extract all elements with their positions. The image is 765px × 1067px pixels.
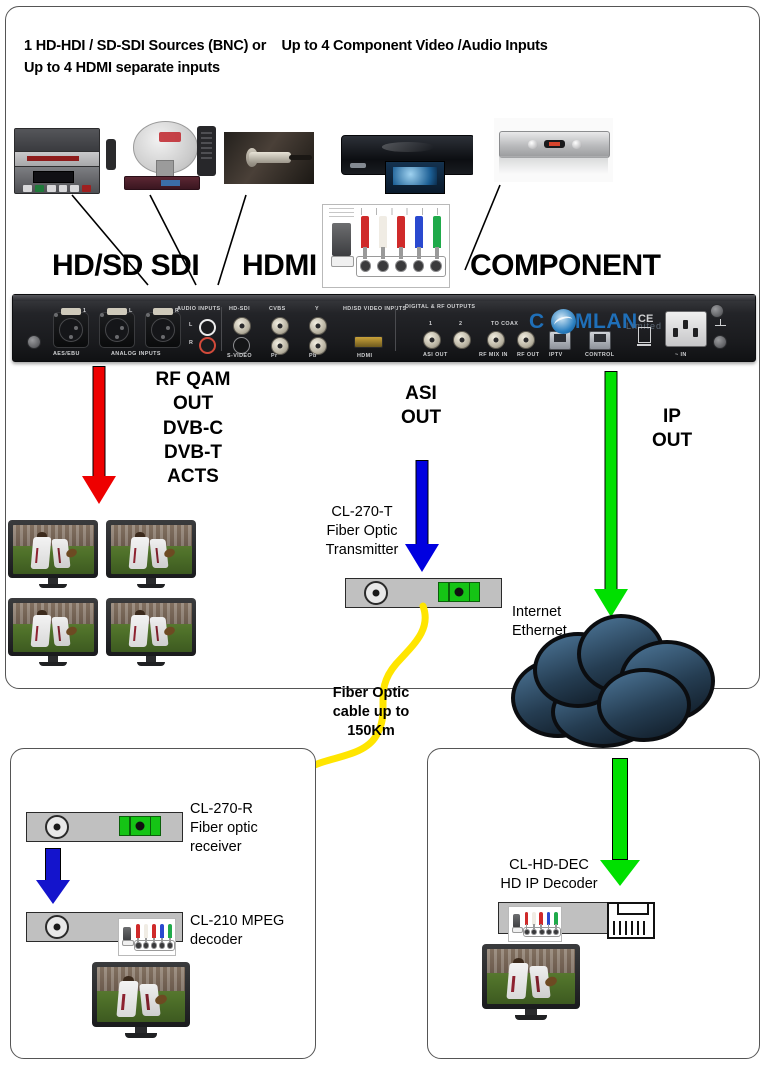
rack-label-ch1: 1 [83,308,86,314]
rack-label-y: Y [315,306,319,312]
caption-component: COMPONENT [470,248,661,283]
source-thumbnail-satellite-dish [104,120,216,192]
cl-270-t-transmitter-device [345,578,502,608]
internet-cloud [511,612,711,743]
chassis-screw-top [710,304,724,318]
source-thumbnail-component-cable-chart [322,204,450,288]
rack-label-rca-r: R [189,340,193,346]
rf-output-label: RF QAM OUT DVB-C DVB-T ACTS [128,368,258,490]
tv-display [106,520,196,588]
rack-label-s-video: S-VIDEO [227,353,252,359]
rack-label-asi-2: 2 [459,321,462,327]
tv-display [8,520,98,588]
s-video-port [233,337,250,354]
rack-label-pr: Pr [271,353,278,359]
source-thumbnail-coax-connector [224,132,314,184]
rack-label-hdsd-video-inputs: HD/SD VIDEO INPUTS [343,306,407,312]
caption-hd-sd-sdi: HD/SD SDI [52,248,199,283]
hdmi-port [354,336,383,348]
source-thumbnail-bluray-player [341,124,473,194]
mpeg-decoder-label: CL-210 MPEG decoder [190,912,306,950]
rf-output-arrow [82,366,116,504]
receiver-label: CL-270-R Fiber optic receiver [190,800,300,857]
decoder-component-cable-chart [118,918,176,956]
rack-label-hdmi: HDMI [357,353,372,359]
bnc-hd-sdi [233,317,251,335]
receiver-bnc-connector [45,815,69,839]
chassis-screw-bottom [713,335,727,349]
receiver-sfp-module [119,816,161,836]
chassis-screw-left [27,335,41,349]
rack-label-pb: Pb [309,353,317,359]
rack-label-audio-inputs: AUDIO INPUTS [177,306,220,312]
rack-label-hd-sdi: HD-SDI [229,306,250,312]
rca-jack-right [199,337,216,354]
transmitter-bnc-connector [364,581,388,605]
tv-display [106,598,196,666]
logo-text-prefix: C [529,310,545,334]
rack-label-control: CONTROL [585,352,614,358]
xlr-connector-1 [53,312,89,348]
rack-label-digital-rf-outputs: DIGITAL & RF OUTPUTS [405,304,475,310]
logo-swirl-icon [551,309,576,334]
rack-label-to-coax: TO COAX [491,321,518,327]
header-line-2: Up to 4 HDMI separate inputs [24,60,220,77]
bnc-asi-out-2 [453,331,471,349]
transmitter-sfp-module [438,582,480,602]
source-thumbnail-set-top-box [494,118,613,182]
xlr-connector-r [145,312,181,348]
bnc-y [309,317,327,335]
decoder-bnc-connector [45,915,69,939]
xlr-connector-l [99,312,135,348]
rack-label-asi-1: 1 [429,321,432,327]
ip-output-arrow [594,371,628,617]
asi-output-label: ASI OUT [379,382,463,431]
rack-label-rf-out: RF OUT [517,352,539,358]
caption-hdmi: HDMI [242,248,317,283]
tv-display [482,944,580,1020]
ac-power-inlet [665,311,707,347]
rack-label-ac-in: ~ IN [675,352,687,358]
rack-label-chl: L [129,308,133,314]
ip-decoder-rj45-port [607,902,655,939]
weee-bin-icon [638,327,651,343]
rack-label-cvbs: CVBS [269,306,286,312]
tv-display [92,962,190,1038]
header-line-1: 1 HD-HDI / SD-SDI Sources (BNC) or Up to… [24,38,548,55]
ce-mark: CE [638,313,653,325]
ground-symbol-icon [715,319,726,331]
rack-label-aes-ebu: AES/EBU [53,351,80,357]
ip-output-label: IP OUT [630,405,714,454]
tv-display [8,598,98,666]
ip-decoder-label: CL-HD-DEC HD IP Decoder [488,856,610,894]
bnc-rf-mix-in [487,331,505,349]
rack-label-analog-inputs: ANALOG INPUTS [111,351,161,357]
rack-label-rca-l: L [189,322,193,328]
comlan-logo: C MLAN Limited [529,309,655,335]
cl-270-r-receiver-device [26,812,183,842]
rca-jack-left [199,319,216,336]
ip-decoder-component-cable-chart [508,906,562,942]
rack-label-iptv: IPTV [549,352,563,358]
bnc-asi-out-1 [423,331,441,349]
fiber-cable-label: Fiber Optic cable up to 150Km [315,684,427,741]
comlan-encoder-rack-unit: 1 L R AES/EBU ANALOG INPUTS AUDIO INPUTS… [12,294,756,362]
source-thumbnail-vtr [14,128,100,194]
rack-label-asi-out: ASI OUT [423,352,448,358]
rack-label-rf-mix-in: RF MIX IN [479,352,508,358]
bnc-cvbs [271,317,289,335]
receiver-to-decoder-arrow [36,848,70,904]
transmitter-label: CL-270-T Fiber Optic Transmitter [308,503,416,560]
